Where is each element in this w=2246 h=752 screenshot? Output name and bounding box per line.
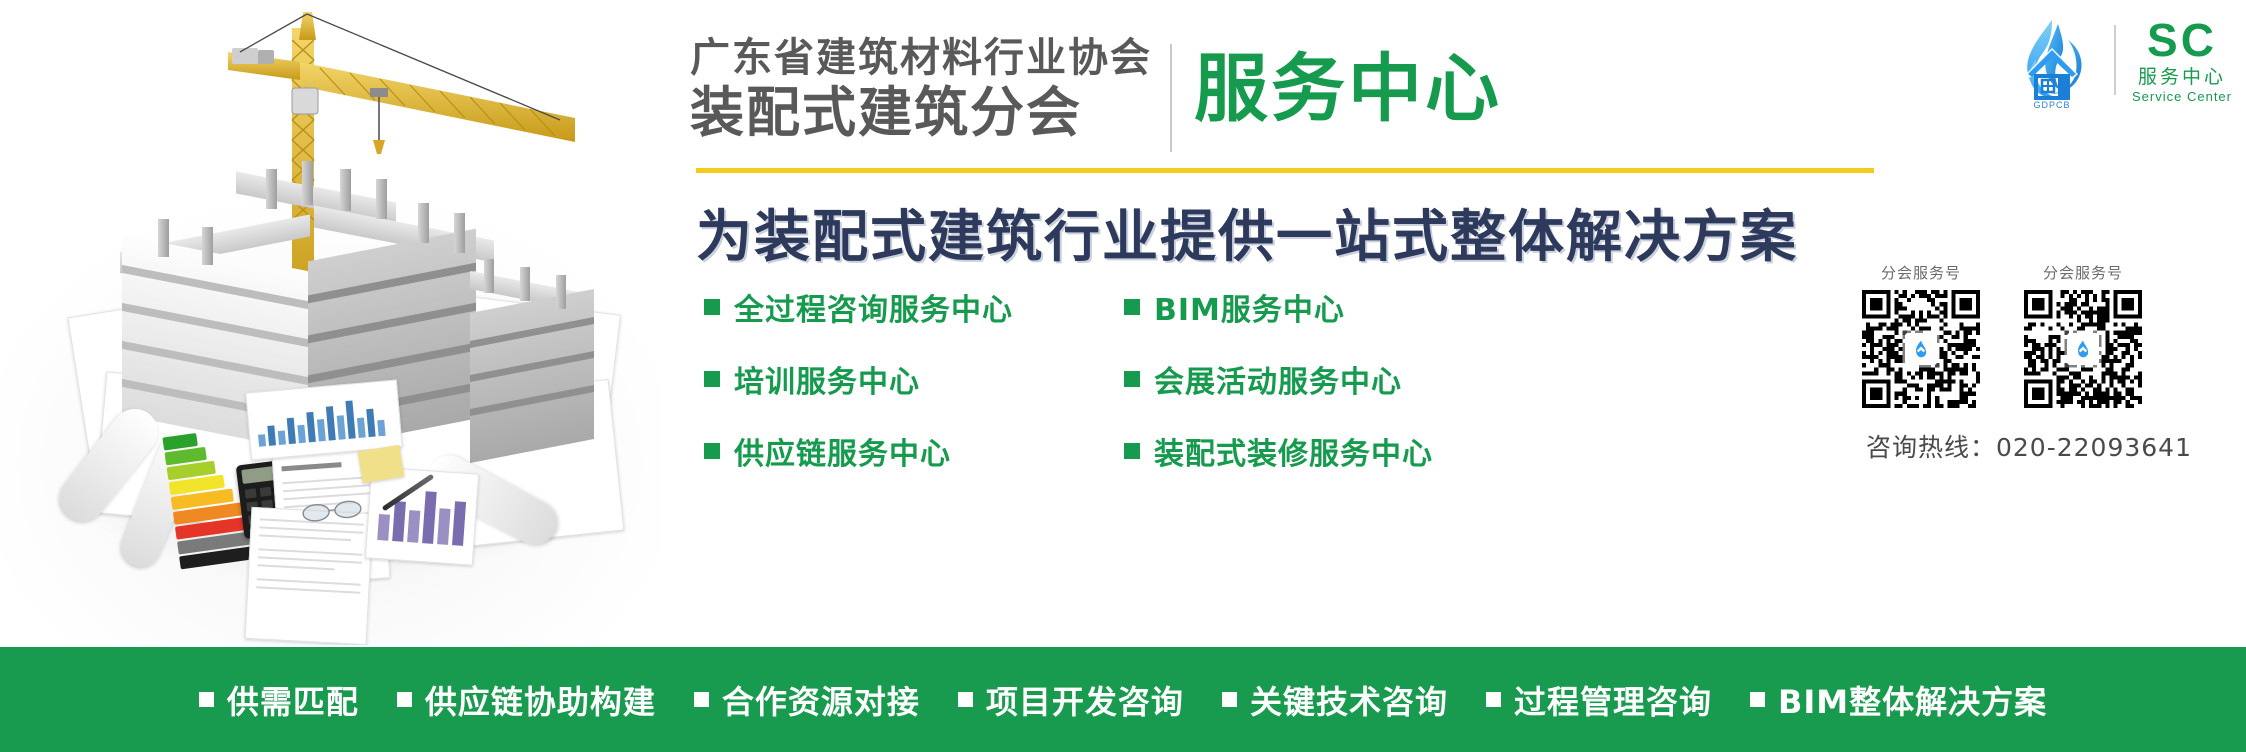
bullet-square-icon — [1124, 371, 1140, 387]
qr-item[interactable]: 分会服务号 — [1862, 262, 1980, 408]
sc-cn-label: 服务中心 — [2138, 68, 2226, 87]
brand-logo[interactable]: GDPCB SC 服务中心 Service Center — [2006, 14, 2232, 106]
footer-item[interactable]: 供应链协助构建 — [397, 677, 656, 723]
sc-logotype: SC 服务中心 Service Center — [2132, 17, 2232, 103]
service-item-label: 全过程咨询服务中心 — [734, 285, 1013, 329]
qr-center-logo-icon — [2067, 333, 2099, 365]
title-row: 广东省建筑材料行业协会 装配式建筑分会 服务中心 — [690, 38, 1502, 152]
gdpcb-flame-house-icon: GDPCB — [2006, 14, 2098, 106]
service-item[interactable]: BIM服务中心 — [1124, 285, 1544, 329]
footer-item[interactable]: 合作资源对接 — [694, 677, 920, 723]
bullet-square-icon — [704, 443, 720, 459]
sc-en-label: Service Center — [2132, 90, 2232, 103]
footer-bar: 供需匹配 供应链协助构建 合作资源对接 项目开发咨询 关键技术咨询 过程管理咨询… — [0, 647, 2246, 752]
logo-divider — [2114, 25, 2116, 95]
banner: 广东省建筑材料行业协会 装配式建筑分会 服务中心 为装配式建筑行业提供一站式整体… — [0, 0, 2246, 752]
bullet-square-icon — [704, 371, 720, 387]
service-center-title: 服务中心 — [1194, 52, 1502, 126]
bullet-square-icon — [1124, 299, 1140, 315]
footer-item-label: BIM整体解决方案 — [1778, 677, 2047, 723]
title-divider — [1170, 44, 1172, 152]
service-item-label: 会展活动服务中心 — [1154, 357, 1402, 401]
footer-item[interactable]: BIM整体解决方案 — [1750, 677, 2047, 723]
qr-item[interactable]: 分会服务号 — [2024, 262, 2142, 408]
logo-mark-caption: GDPCB — [2034, 100, 2071, 110]
footer-item-label: 供应链协助构建 — [425, 677, 656, 723]
qr-caption: 分会服务号 — [2024, 262, 2142, 283]
association-line1: 广东省建筑材料行业协会 — [690, 38, 1152, 78]
qr-center-logo-icon — [1905, 333, 1937, 365]
service-item[interactable]: 培训服务中心 — [704, 357, 1124, 401]
service-item-label: 供应链服务中心 — [734, 429, 951, 473]
service-item[interactable]: 全过程咨询服务中心 — [704, 285, 1124, 329]
bullet-square-icon — [1222, 692, 1237, 707]
service-item-label: 培训服务中心 — [734, 357, 920, 401]
service-item[interactable]: 供应链服务中心 — [704, 429, 1124, 473]
sc-abbr: SC — [2147, 17, 2217, 63]
bullet-square-icon — [199, 692, 214, 707]
association-name: 广东省建筑材料行业协会 装配式建筑分会 — [690, 38, 1152, 140]
yellow-divider-rule — [696, 168, 1874, 173]
document-form — [245, 507, 374, 645]
qr-code-image[interactable] — [2024, 290, 2142, 408]
qr-code-image[interactable] — [1862, 290, 1980, 408]
hotline-text: 咨询热线：020-22093641 — [1862, 428, 2234, 464]
bullet-square-icon — [958, 692, 973, 707]
footer-item[interactable]: 过程管理咨询 — [1486, 677, 1712, 723]
footer-item[interactable]: 关键技术咨询 — [1222, 677, 1448, 723]
footer-item-label: 供需匹配 — [227, 677, 359, 723]
bullet-square-icon — [1750, 692, 1765, 707]
service-item[interactable]: 装配式装修服务中心 — [1124, 429, 1544, 473]
association-line2: 装配式建筑分会 — [690, 86, 1152, 140]
bullet-square-icon — [1124, 443, 1140, 459]
bullet-square-icon — [1486, 692, 1501, 707]
footer-item[interactable]: 项目开发咨询 — [958, 677, 1184, 723]
footer-item[interactable]: 供需匹配 — [199, 677, 359, 723]
footer-item-label: 合作资源对接 — [722, 677, 920, 723]
content-area: 广东省建筑材料行业协会 装配式建筑分会 服务中心 为装配式建筑行业提供一站式整体… — [690, 0, 2246, 752]
footer-item-label: 项目开发咨询 — [986, 677, 1184, 723]
service-item[interactable]: 会展活动服务中心 — [1124, 357, 1544, 401]
qr-block: 分会服务号 分会服务号 — [1862, 262, 2234, 464]
bullet-square-icon — [397, 692, 412, 707]
footer-item-label: 关键技术咨询 — [1250, 677, 1448, 723]
sticky-note — [358, 445, 404, 483]
footer-item-label: 过程管理咨询 — [1514, 677, 1712, 723]
qr-caption: 分会服务号 — [1862, 262, 1980, 283]
service-list: 全过程咨询服务中心 BIM服务中心 培训服务中心 会展活动服务中心 供应链服务中… — [704, 285, 1734, 473]
bullet-square-icon — [704, 299, 720, 315]
bullet-square-icon — [694, 692, 709, 707]
hero-illustration — [0, 0, 660, 645]
service-item-label: BIM服务中心 — [1154, 285, 1345, 329]
slogan-text: 为装配式建筑行业提供一站式整体解决方案 — [696, 192, 1798, 273]
service-item-label: 装配式装修服务中心 — [1154, 429, 1433, 473]
